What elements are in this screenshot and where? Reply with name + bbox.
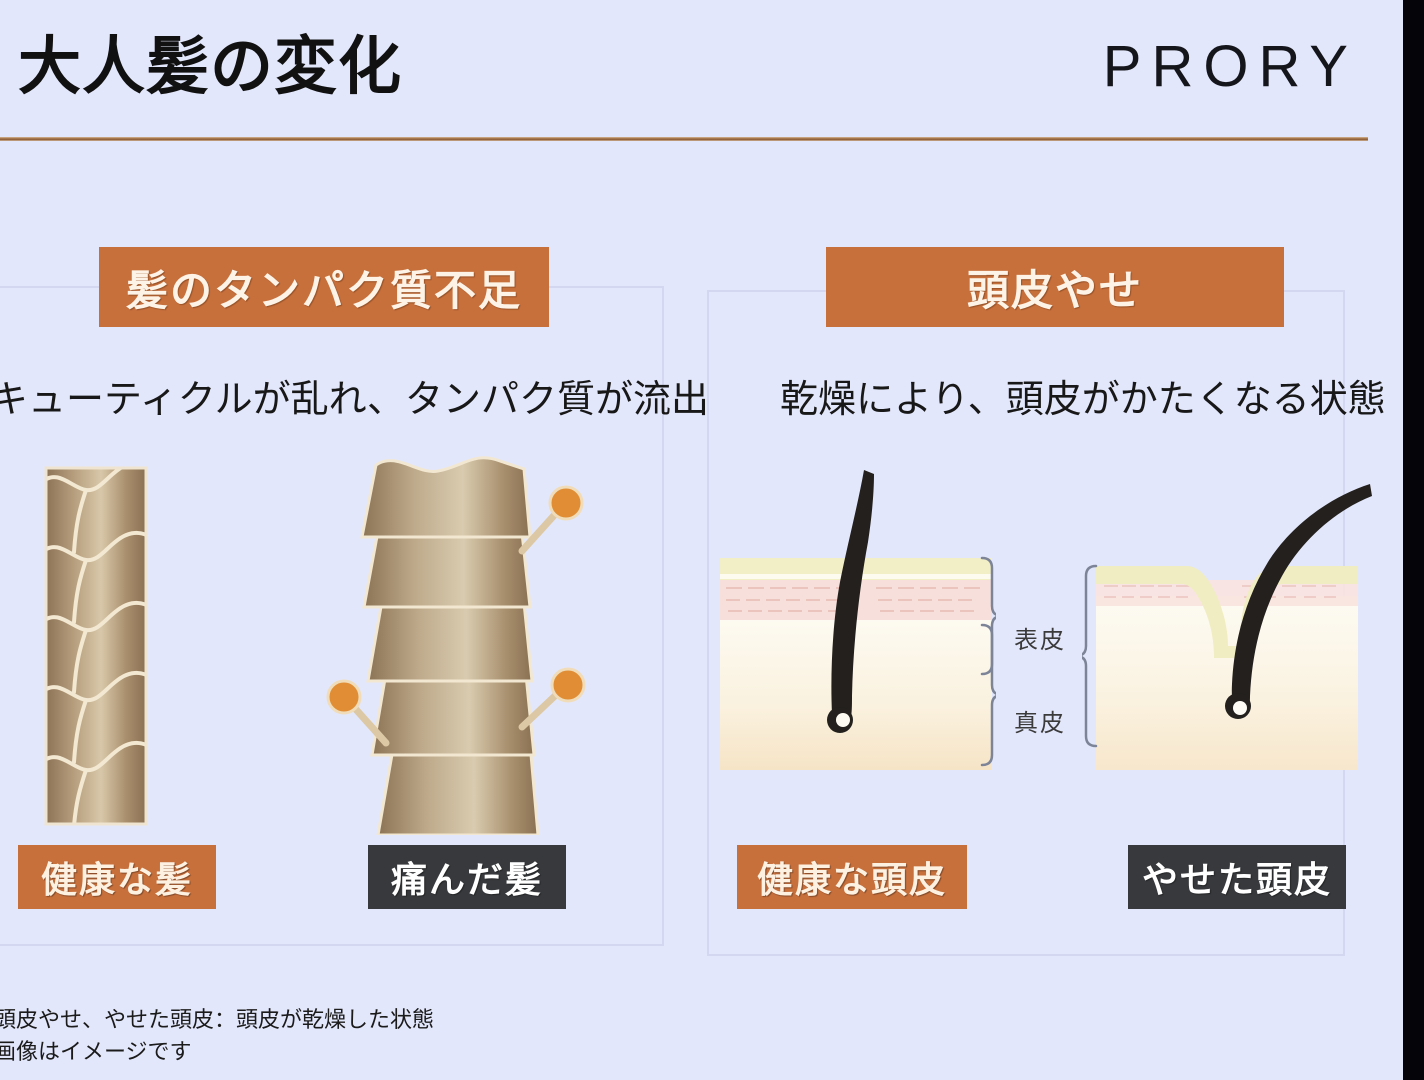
page-title: 大人髪の変化 <box>18 36 402 99</box>
thin-scalp-illustration <box>1082 470 1372 770</box>
label-healthy-hair: 健康な髪 <box>18 845 216 909</box>
right-edge-crop-bar <box>1403 0 1424 1080</box>
footnotes: 頭皮やせ、やせた頭皮：頭皮が乾燥した状態 画像はイメージです <box>0 1004 434 1068</box>
footnote-line-1: 頭皮やせ、やせた頭皮：頭皮が乾燥した状態 <box>0 1004 434 1036</box>
label-damaged-hair: 痛んだ髪 <box>368 845 566 909</box>
layer-label-dermis: 真皮 <box>1014 703 1066 738</box>
layer-label-epidermis: 表皮 <box>1014 620 1066 655</box>
healthy-hair-cuticle-illustration <box>28 460 218 830</box>
brand-logo: PRORY <box>1103 38 1358 96</box>
label-healthy-scalp: 健康な頭皮 <box>737 845 967 909</box>
healthy-scalp-illustration <box>716 470 996 770</box>
section-header-scalp-thinning: 頭皮やせ <box>826 247 1284 327</box>
description-scalp-thinning: 乾燥により、頭皮がかたくなる状態 <box>780 380 1386 422</box>
section-header-hair-protein: 髪のタンパク質不足 <box>99 247 549 327</box>
title-divider <box>0 137 1368 141</box>
label-thin-scalp: やせた頭皮 <box>1128 845 1346 909</box>
slide-canvas: 大人髪の変化 PRORY 髪のタンパク質不足 頭皮やせ キューティクルが乱れ、タ… <box>0 0 1403 1080</box>
footnote-line-2: 画像はイメージです <box>0 1036 434 1068</box>
description-hair-protein: キューティクルが乱れ、タンパク質が流出 <box>0 380 709 422</box>
damaged-hair-cuticle-illustration <box>326 455 606 835</box>
